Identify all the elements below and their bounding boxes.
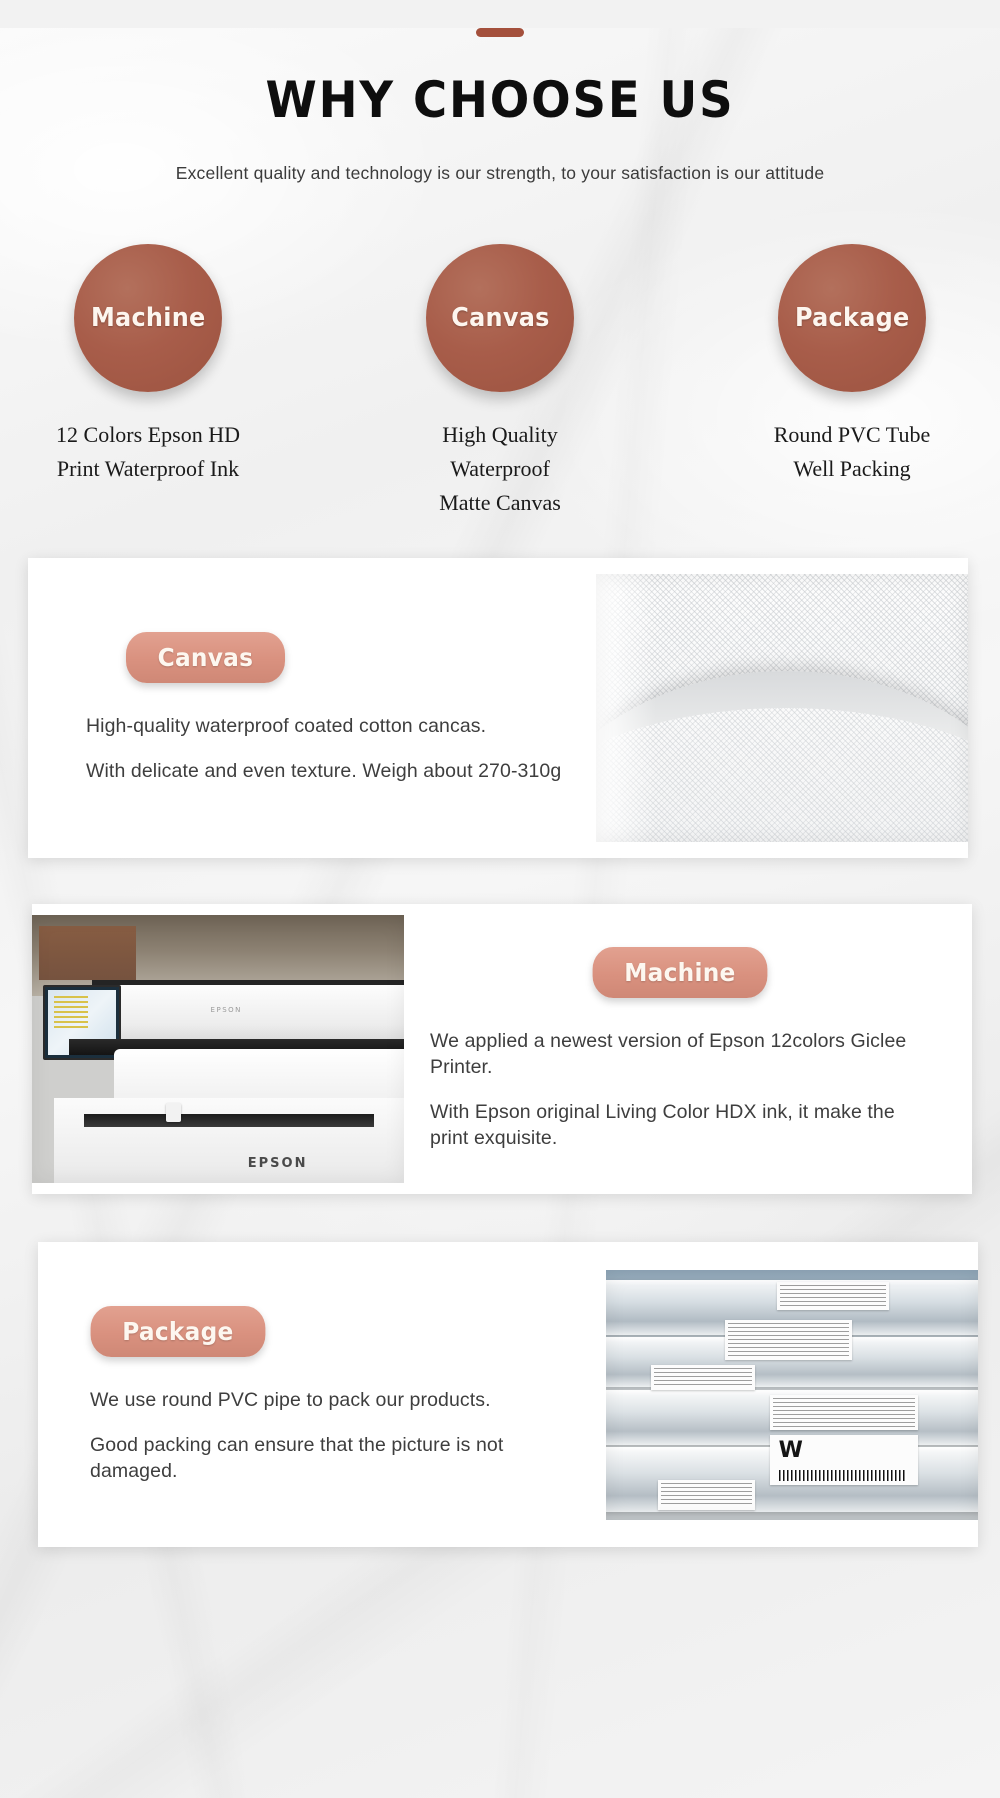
page-subtitle: Excellent quality and technology is our … — [0, 163, 1000, 184]
badge-canvas: Canvas High Quality Waterproof Matte Can… — [395, 244, 605, 520]
shipping-label — [658, 1480, 755, 1510]
canvas-pill-wrap: Canvas — [62, 632, 562, 683]
canvas-paragraph: With delicate and even texture. Weigh ab… — [86, 758, 562, 784]
canvas-roll-photo — [596, 574, 968, 842]
package-card-text: Package We use round PVC pipe to pack ou… — [38, 1306, 606, 1484]
shipping-label — [725, 1320, 851, 1360]
machine-pill-wrap: Machine — [422, 947, 938, 998]
canvas-paragraph: High-quality waterproof coated cotton ca… — [86, 713, 562, 739]
canvas-edge-fade — [596, 574, 656, 842]
page-title: WHY CHOOSE US — [35, 71, 965, 129]
feature-card-machine: EPSON EPSON Machine We applied a newest … — [32, 904, 972, 1194]
canvas-pill: Canvas — [126, 632, 285, 683]
label-mark-w: W — [779, 1438, 803, 1463]
label-text-lines — [773, 1398, 916, 1427]
printer-lower-body — [54, 1098, 404, 1184]
canvas-paragraphs: High-quality waterproof coated cotton ca… — [62, 713, 562, 784]
badge-caption-line: Print Waterproof Ink — [43, 452, 253, 486]
badge-caption-canvas: High Quality Waterproof Matte Canvas — [395, 418, 605, 520]
accent-dash — [476, 28, 524, 37]
badge-label-machine: Machine — [91, 303, 206, 333]
shipping-label-main: W — [770, 1435, 919, 1485]
badge-label-package: Package — [795, 303, 910, 333]
printer-logo-epson: EPSON — [248, 1156, 308, 1171]
label-text-lines — [654, 1368, 752, 1387]
printer-upper-body — [92, 980, 404, 1042]
package-paragraphs: We use round PVC pipe to pack our produc… — [72, 1387, 572, 1484]
package-paragraph: We use round PVC pipe to pack our produc… — [90, 1387, 572, 1413]
package-pill-wrap: Package — [72, 1306, 572, 1357]
shipping-label — [651, 1365, 755, 1390]
badge-circle-canvas: Canvas — [426, 244, 574, 392]
badge-caption-line: Matte Canvas — [395, 486, 605, 520]
badge-caption-line: High Quality Waterproof — [395, 418, 605, 486]
badge-label-canvas: Canvas — [451, 303, 549, 333]
label-barcode — [779, 1470, 907, 1481]
package-pill: Package — [91, 1306, 266, 1357]
machine-paragraph: We applied a newest version of Epson 12c… — [430, 1028, 938, 1080]
badge-caption-machine: 12 Colors Epson HD Print Waterproof Ink — [43, 418, 253, 486]
printer-logo-small: EPSON — [211, 1006, 242, 1014]
shipping-label — [777, 1282, 889, 1310]
label-text-lines — [780, 1285, 886, 1307]
canvas-card-text: Canvas High-quality waterproof coated co… — [28, 632, 596, 784]
badge-caption-line: Well Packing — [747, 452, 957, 486]
badge-circle-machine: Machine — [74, 244, 222, 392]
badge-package: Package Round PVC Tube Well Packing — [747, 244, 957, 520]
badge-caption-package: Round PVC Tube Well Packing — [747, 418, 957, 486]
feature-card-package: Package We use round PVC pipe to pack ou… — [38, 1242, 978, 1547]
badge-caption-line: Round PVC Tube — [747, 418, 957, 452]
badge-circle-package: Package — [778, 244, 926, 392]
badge-machine: Machine 12 Colors Epson HD Print Waterpr… — [43, 244, 253, 520]
monitor-screen-content — [54, 996, 87, 1031]
package-paragraph: Good packing can ensure that the picture… — [90, 1432, 572, 1484]
label-text-lines — [728, 1323, 848, 1357]
pvc-tubes-photo: W — [606, 1270, 978, 1520]
printer-paper-slot — [84, 1114, 374, 1127]
machine-paragraph: With Epson original Living Color HDX ink… — [430, 1099, 938, 1151]
label-text-lines — [661, 1483, 752, 1507]
machine-pill: Machine — [593, 947, 768, 998]
printer-mid-body — [114, 1049, 404, 1103]
feature-badge-row: Machine 12 Colors Epson HD Print Waterpr… — [0, 244, 1000, 520]
printer-room-shelf — [39, 926, 136, 980]
page-content: WHY CHOOSE US Excellent quality and tech… — [0, 28, 1000, 1547]
shipping-label — [770, 1395, 919, 1430]
machine-paragraphs: We applied a newest version of Epson 12c… — [422, 1028, 938, 1152]
machine-card-text: Machine We applied a newest version of E… — [404, 947, 972, 1152]
badge-caption-line: 12 Colors Epson HD — [43, 418, 253, 452]
epson-printer-photo: EPSON EPSON — [32, 915, 404, 1183]
feature-card-canvas: Canvas High-quality waterproof coated co… — [28, 558, 968, 858]
printer-knob — [166, 1103, 181, 1122]
